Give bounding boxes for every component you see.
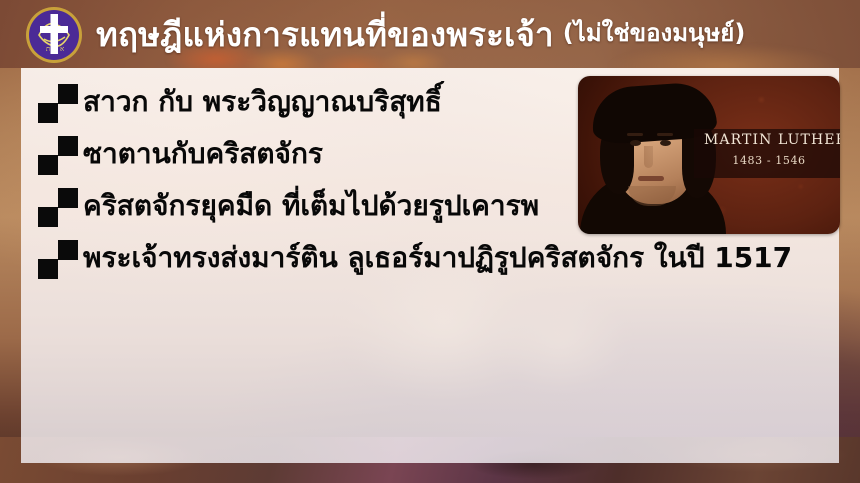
cross-emblem-icon: ת א [24, 5, 84, 65]
slide-title-main: ทฤษฎีแห่งการแทนที่ของพระเจ้า [96, 18, 554, 51]
martin-luther-dates: 1483 - 1546 [704, 154, 834, 167]
svg-text:א: א [60, 45, 64, 53]
double-square-bullet-icon [37, 136, 81, 180]
presentation-slide: ת א ทฤษฎีแห่งการแทนที่ของพระเจ้า (ไม่ใช่… [0, 0, 860, 483]
slide-title: ทฤษฎีแห่งการแทนที่ของพระเจ้า (ไม่ใช่ของม… [96, 6, 745, 62]
double-square-bullet-icon [37, 240, 81, 284]
double-square-bullet-icon [37, 188, 81, 232]
list-item-label: สาวก กับ พระวิญญาณบริสุทธิ์ [83, 82, 442, 122]
slide-title-parenthetical: (ไม่ใช่ของมนุษย์) [563, 21, 745, 47]
list-item-label: คริสตจักรยุคมืด ที่เต็มไปด้วยรูปเคารพ [83, 186, 539, 226]
list-item-label: ซาตานกับคริสตจักร [83, 134, 323, 174]
double-square-bullet-icon [37, 84, 81, 128]
martin-luther-name: MARTIN LUTHER [704, 132, 834, 148]
list-item: พระเจ้าทรงส่งมาร์ติน ลูเธอร์มาปฏิรูปคริส… [37, 238, 839, 290]
svg-text:ת: ת [46, 45, 50, 53]
list-item-label: พระเจ้าทรงส่งมาร์ติน ลูเธอร์มาปฏิรูปคริส… [83, 238, 792, 278]
martin-luther-image-card: MARTIN LUTHER 1483 - 1546 [578, 76, 840, 234]
